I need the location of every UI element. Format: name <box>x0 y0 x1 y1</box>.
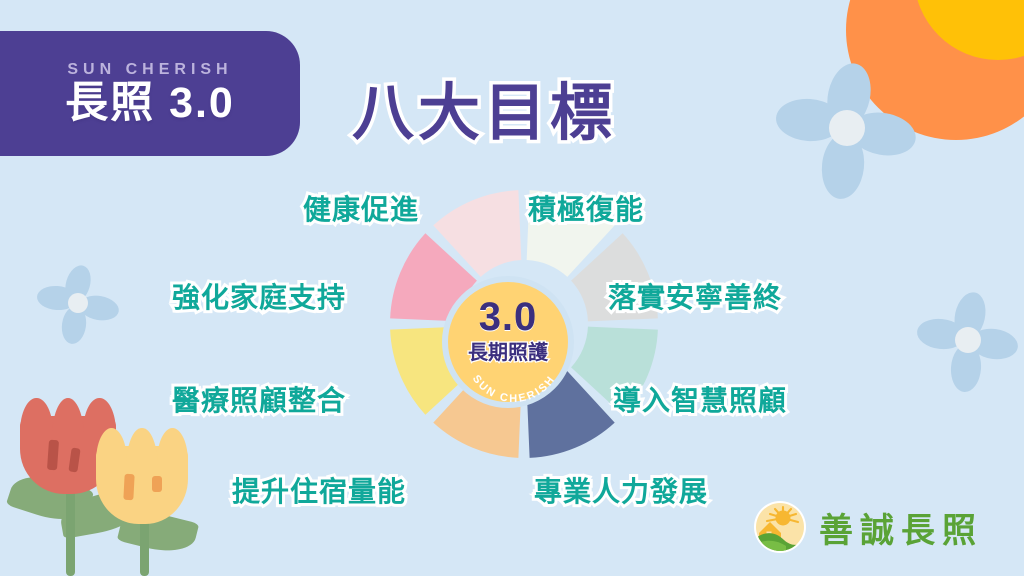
flower-petal <box>36 285 78 312</box>
corner-arc-orange <box>846 0 1024 140</box>
flower-petal <box>775 97 844 144</box>
tulip-stem <box>66 468 75 576</box>
hub-arc-text: SUN CHERISH <box>448 282 580 414</box>
infographic-canvas: SUN CHERISH 長照 3.0 八大目標 3.0 長期照護 SUN CHE… <box>0 0 1024 576</box>
tulip-bloom-red <box>20 398 116 498</box>
flower-petal <box>77 293 121 324</box>
flower-petal <box>819 131 868 201</box>
brand-name-text: 善誠長照 <box>819 503 983 552</box>
tulip-petal-tip <box>20 398 53 432</box>
tulip-bloom-yellow <box>96 428 188 526</box>
chart-center-hub: 3.0 長期照護 SUN CHERISH <box>442 276 574 408</box>
goal-label-family-support: 強化家庭支持 <box>172 276 346 316</box>
page-title: 八大目標 <box>352 62 616 152</box>
goal-label-workforce-development: 專業人力發展 <box>534 470 708 510</box>
tulip-petal-tip <box>83 398 116 432</box>
brand-logo: 善誠長照 <box>753 500 983 554</box>
flower-center <box>955 327 981 353</box>
flower-center <box>829 110 865 146</box>
tulip-marking <box>152 476 162 492</box>
badge-title: 長照 3.0 <box>65 81 235 126</box>
goal-label-active-rehab: 積極復能 <box>528 188 644 228</box>
tulip-petal-tip <box>126 428 157 468</box>
goal-label-health-promotion: 健康促進 <box>303 188 419 228</box>
tulip-petal-tip <box>52 398 85 438</box>
badge-kicker: SUN CHERISH <box>67 61 232 79</box>
flower-icon <box>920 290 1016 390</box>
brand-badge: SUN CHERISH 長照 3.0 <box>0 31 300 156</box>
sun-house-logo-icon <box>753 500 807 554</box>
goal-label-hospice-care: 落實安寧善終 <box>608 276 782 316</box>
tulip-leaf <box>57 487 146 539</box>
tulip-marking <box>123 474 134 500</box>
tulip-stem <box>140 498 149 576</box>
flower-petal <box>59 305 88 346</box>
tulip-petal-tip <box>157 428 188 462</box>
tulip-leaf <box>6 467 94 530</box>
svg-text:SUN CHERISH: SUN CHERISH <box>470 373 558 405</box>
tulip-marking <box>47 440 59 471</box>
corner-arc-yellow <box>914 0 1024 60</box>
flower-petal <box>949 343 982 393</box>
tulip-leaf <box>117 505 199 558</box>
goal-label-smart-care: 導入智慧照顧 <box>613 379 787 419</box>
flower-petal <box>950 289 989 342</box>
tulip-marking <box>68 447 80 472</box>
goal-label-medical-integration: 醫療照顧整合 <box>172 379 346 419</box>
flower-petal <box>968 326 1020 362</box>
flower-center <box>68 293 88 313</box>
tulip-cup <box>20 416 116 494</box>
goal-label-residential-capacity: 提升住宿量能 <box>232 470 406 510</box>
flower-icon <box>38 262 118 344</box>
flower-petal <box>61 262 95 305</box>
flower-petal <box>822 59 877 132</box>
flower-icon <box>782 58 912 198</box>
flower-petal <box>916 317 967 352</box>
flower-petal <box>847 108 919 161</box>
tulip-petal-tip <box>96 428 127 462</box>
tulip-cup <box>96 446 188 524</box>
